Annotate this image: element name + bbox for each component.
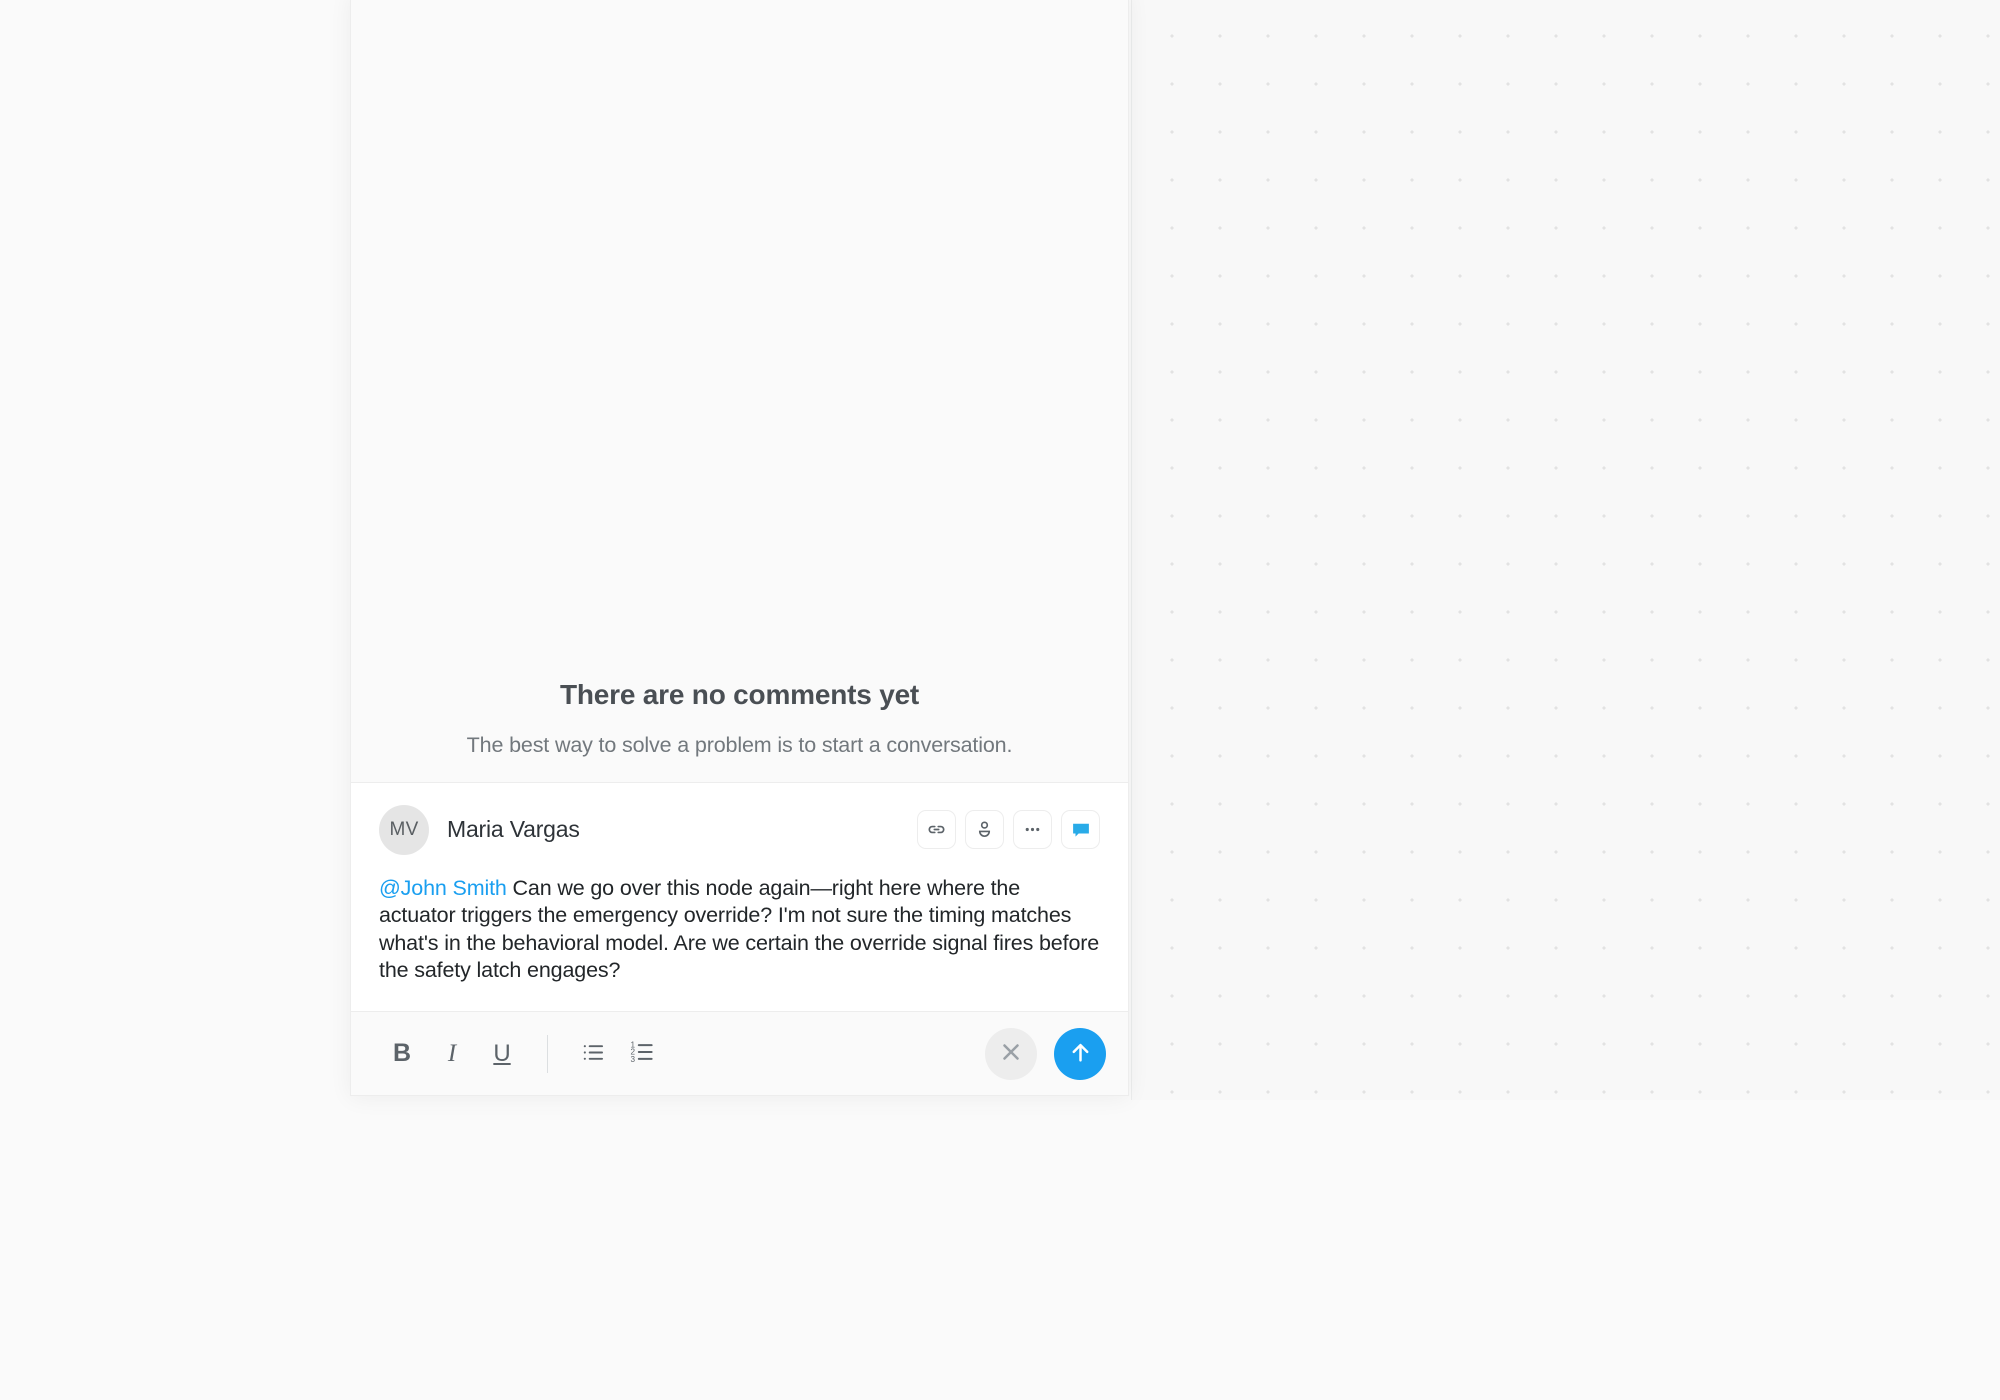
composer-header-actions (917, 810, 1100, 849)
comment-bubble-icon (1070, 819, 1092, 841)
bulleted-list-button[interactable] (570, 1031, 616, 1077)
send-button[interactable] (1054, 1028, 1106, 1080)
avatar: MV (379, 805, 429, 855)
bullet-list-icon (580, 1039, 607, 1069)
more-options-button[interactable] (1013, 810, 1052, 849)
composer-header: MV Maria Vargas (351, 783, 1128, 869)
author-name: Maria Vargas (447, 816, 580, 843)
assign-person-button[interactable] (965, 810, 1004, 849)
ellipsis-icon (1022, 819, 1043, 840)
close-icon (998, 1039, 1024, 1068)
copy-link-button[interactable] (917, 810, 956, 849)
italic-button[interactable]: I (429, 1031, 475, 1077)
bold-button[interactable]: B (379, 1031, 425, 1077)
diagram-canvas[interactable]: Initialize Data Perform Intercept Assign… (1131, 0, 2000, 1100)
person-icon (974, 819, 995, 840)
comment-panel: There are no comments yet The best way t… (350, 0, 1129, 1096)
svg-text:3: 3 (631, 1055, 636, 1064)
italic-icon: I (448, 1040, 456, 1068)
comment-text-editor[interactable]: @John Smith Can we go over this node aga… (351, 869, 1128, 1011)
app-root: Initialize Data Perform Intercept Assign… (0, 0, 2000, 1400)
numbered-list-icon: 1 2 3 (629, 1038, 657, 1069)
link-icon (926, 819, 947, 840)
numbered-list-button[interactable]: 1 2 3 (620, 1031, 666, 1077)
comment-button[interactable] (1061, 810, 1100, 849)
cancel-button[interactable] (985, 1028, 1037, 1080)
toolbar-divider (547, 1035, 548, 1073)
bold-icon: B (393, 1039, 411, 1068)
comments-empty-state: There are no comments yet The best way t… (351, 0, 1128, 783)
empty-state-subtitle: The best way to solve a problem is to st… (467, 733, 1013, 758)
underline-icon: U (493, 1040, 510, 1068)
arrow-up-icon (1067, 1039, 1094, 1069)
comment-composer: MV Maria Vargas (351, 783, 1128, 1095)
mention-john-smith[interactable]: @John Smith (379, 876, 507, 900)
underline-button[interactable]: U (479, 1031, 525, 1077)
empty-state-title: There are no comments yet (560, 679, 919, 711)
formatting-toolbar: B I U (351, 1011, 1128, 1095)
